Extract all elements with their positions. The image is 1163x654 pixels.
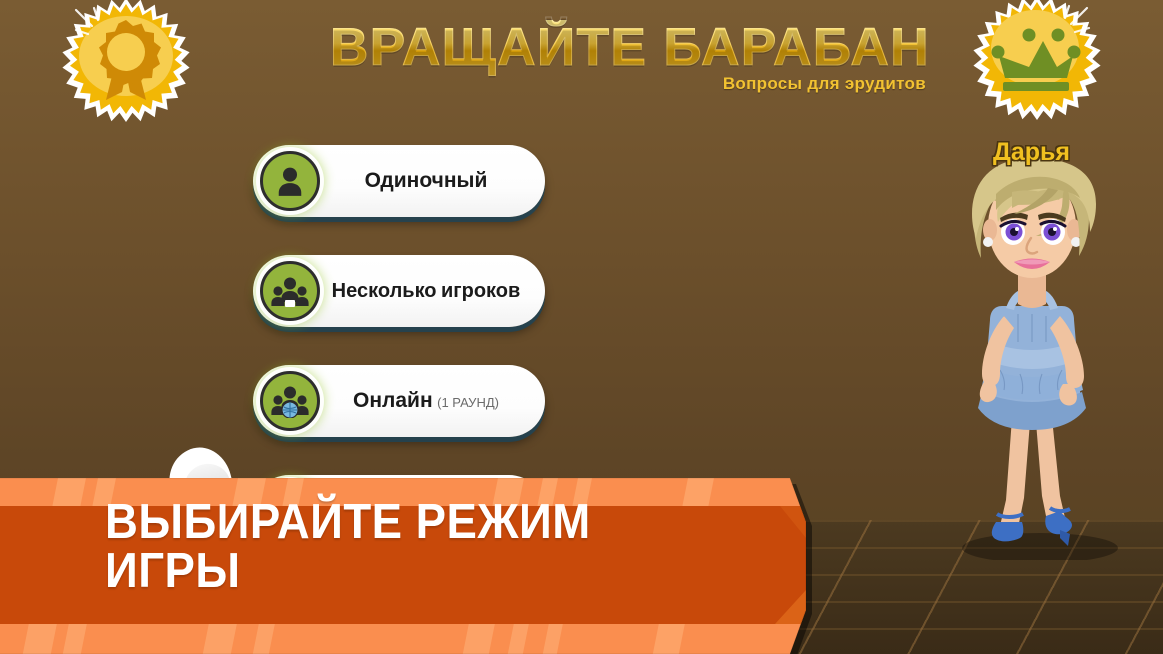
character-avatar: Дарья — [900, 130, 1163, 560]
game-screen: ВРАЩАЙТЕ БАРАБАН Вопросы для эрудитов Од… — [0, 0, 1163, 654]
menu-button-single-player[interactable]: Одиночный — [253, 145, 545, 217]
menu-button-label-line2: игроков — [441, 280, 520, 302]
header: ВРАЩАЙТЕ БАРАБАН Вопросы для эрудитов — [0, 20, 930, 94]
multiplayer-icon — [260, 261, 320, 321]
menu-button-online[interactable]: Онлайн (1 РАУНД) — [253, 365, 545, 437]
single-player-icon — [260, 151, 320, 211]
menu-button-label: Онлайн — [353, 389, 433, 412]
banner-text: ВЫБИРАЙТЕ РЕЖИМ ИГРЫ — [105, 498, 719, 596]
menu-button-label-line1: Несколько — [332, 280, 437, 302]
page-title: ВРАЩАЙТЕ БАРАБАН — [0, 20, 930, 76]
crown-badge — [973, 0, 1101, 122]
menu-button-sublabel: (1 РАУНД) — [437, 395, 499, 410]
banner-text-line2: ИГРЫ — [105, 547, 719, 596]
menu-button-label: Одиночный — [365, 169, 488, 192]
menu-button-multiplayer[interactable]: Несколько игроков — [253, 255, 545, 327]
character-illustration — [900, 130, 1163, 560]
online-globe-icon — [260, 371, 320, 431]
banner-text-line1: ВЫБИРАЙТЕ РЕЖИМ — [105, 498, 719, 547]
character-name-label: Дарья — [900, 138, 1163, 167]
promo-banner: ВЫБИРАЙТЕ РЕЖИМ ИГРЫ — [0, 478, 826, 654]
